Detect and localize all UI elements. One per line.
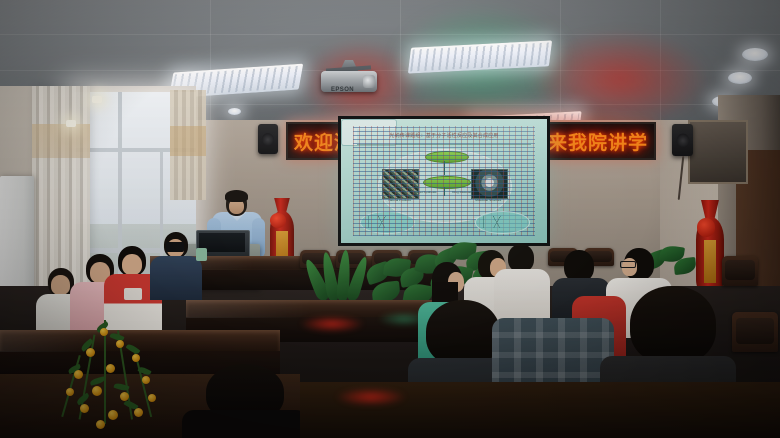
audience-foreground-left bbox=[182, 364, 308, 438]
upper-window-right bbox=[688, 120, 748, 184]
projector-lens bbox=[363, 75, 375, 88]
audience-laptop-left bbox=[166, 242, 184, 252]
air-conditioner-unit[interactable] bbox=[0, 176, 34, 300]
chair-r2[interactable] bbox=[732, 312, 778, 352]
projector: EPSON bbox=[317, 60, 379, 92]
presenter-hair bbox=[225, 190, 248, 202]
screen-glare bbox=[341, 119, 547, 243]
wall-light-1 bbox=[66, 120, 76, 127]
curtain-valance-right bbox=[170, 126, 206, 156]
audience-cup-left bbox=[196, 248, 207, 261]
chair-r1[interactable] bbox=[722, 256, 758, 286]
downlight-1 bbox=[742, 48, 768, 61]
downlight-2 bbox=[728, 72, 752, 84]
kumquat-plant bbox=[52, 320, 162, 430]
wall-light-2 bbox=[92, 96, 102, 103]
curtain-valance-left bbox=[32, 124, 90, 158]
vase-right-bow bbox=[697, 218, 716, 236]
vase-right-banner-tag bbox=[704, 240, 717, 282]
vase-right-neck bbox=[701, 200, 719, 218]
table-red-reflection-1 bbox=[300, 316, 364, 332]
wall-speaker-right bbox=[672, 124, 693, 156]
vase-left-bow bbox=[270, 213, 286, 228]
table-red-reflection-2 bbox=[336, 388, 406, 406]
eyeglasses-icon bbox=[620, 261, 636, 268]
lecture-hall-photo: EPSON 欢迎浙江大学 教授来我院讲学 光纳传课题组 bbox=[0, 0, 780, 438]
downlight-4 bbox=[228, 108, 241, 115]
projector-body: EPSON bbox=[321, 71, 377, 92]
projector-brand-label: EPSON bbox=[331, 87, 354, 93]
projection-screen-frame: 光纳传课题组：基于分子活性反应及其合成应用 Natural Products M… bbox=[338, 116, 550, 246]
projection-screen: 光纳传课题组：基于分子活性反应及其合成应用 Natural Products M… bbox=[341, 119, 547, 243]
wall-speaker-left bbox=[258, 124, 278, 154]
